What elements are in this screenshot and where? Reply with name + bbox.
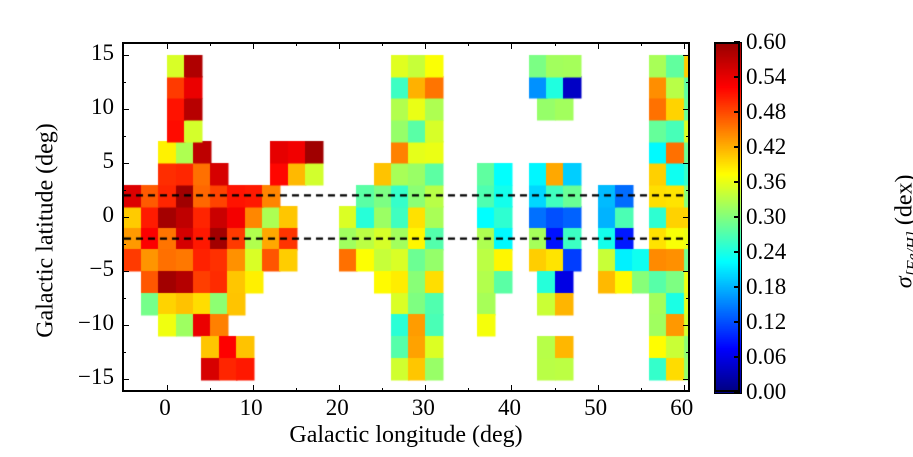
sigma-subscript: [Fe/H]: [904, 231, 913, 276]
y-tick-minor-left: [122, 82, 126, 83]
colorbar-tick-label: 0.30: [746, 204, 786, 230]
x-tick-label: 40: [498, 395, 521, 421]
y-tick-minor-left: [122, 298, 126, 299]
colorbar-tick: [734, 111, 740, 113]
y-tick-right: [683, 379, 690, 380]
y-tick-minor-left: [122, 190, 126, 191]
x-tick-label: 60: [670, 395, 693, 421]
x-tick-top: [684, 42, 685, 49]
x-tick-top: [339, 42, 340, 49]
y-tick-minor-left: [122, 136, 126, 137]
x-tick-minor-bottom: [468, 388, 469, 392]
x-tick-bottom: [511, 385, 512, 392]
y-tick-minor-left: [122, 244, 126, 245]
plot-area: [122, 42, 690, 392]
y-tick-label: 10: [14, 94, 114, 120]
x-tick-bottom: [425, 385, 426, 392]
colorbar-tick: [734, 76, 740, 78]
colorbar-tick-label: 0.18: [746, 274, 786, 300]
heatmap-canvas: [124, 44, 688, 390]
y-tick-right: [683, 55, 690, 56]
x-tick-label: 30: [412, 395, 435, 421]
x-tick-bottom: [598, 385, 599, 392]
x-tick-minor-bottom: [555, 388, 556, 392]
y-tick-minor-right: [686, 298, 690, 299]
x-tick-bottom: [684, 385, 685, 392]
x-tick-top: [598, 42, 599, 49]
y-tick-left: [122, 325, 129, 326]
y-tick-minor-right: [686, 136, 690, 137]
x-tick-minor-bottom: [296, 388, 297, 392]
y-tick-left: [122, 379, 129, 380]
colorbar-gradient: [714, 42, 742, 394]
x-tick-minor-top: [382, 42, 383, 46]
x-tick-minor-top: [468, 42, 469, 46]
y-tick-label: −5: [14, 256, 114, 282]
y-tick-label: −15: [14, 364, 114, 390]
x-tick-label: 0: [159, 395, 171, 421]
colorbar-tick: [734, 146, 740, 148]
colorbar-title: σ[Fe/H] (dex): [892, 66, 913, 396]
x-tick-label: 10: [240, 395, 263, 421]
colorbar-tick-label: 0.00: [746, 379, 786, 405]
figure-root: 0102030405060 −15−10−5051015 Galactic lo…: [0, 0, 913, 457]
colorbar-tick-label: 0.24: [746, 239, 786, 265]
y-tick-label: 15: [14, 40, 114, 66]
colorbar-tick: [734, 356, 740, 358]
colorbar-tick-label: 0.12: [746, 309, 786, 335]
colorbar-tick-label: 0.60: [746, 29, 786, 55]
y-tick-minor-left: [122, 352, 126, 353]
colorbar-tick: [734, 251, 740, 253]
y-tick-right: [683, 325, 690, 326]
x-tick-minor-bottom: [210, 388, 211, 392]
colorbar-tick: [734, 181, 740, 183]
x-tick-label: 20: [326, 395, 349, 421]
x-tick-minor-top: [641, 42, 642, 46]
colorbar-tick: [734, 41, 740, 43]
x-tick-bottom: [167, 385, 168, 392]
y-tick-left: [122, 271, 129, 272]
colorbar-tick-label: 0.54: [746, 64, 786, 90]
y-tick-minor-right: [686, 190, 690, 191]
y-tick-right: [683, 109, 690, 110]
x-tick-top: [167, 42, 168, 49]
y-axis-title: Galactic latitude (deg): [33, 61, 60, 401]
colorbar-tick: [734, 216, 740, 218]
y-tick-left: [122, 55, 129, 56]
x-tick-bottom: [253, 385, 254, 392]
y-tick-minor-right: [686, 244, 690, 245]
x-tick-minor-top: [555, 42, 556, 46]
y-tick-right: [683, 217, 690, 218]
x-tick-label: 50: [584, 395, 607, 421]
x-tick-minor-top: [296, 42, 297, 46]
y-tick-label: 5: [14, 148, 114, 174]
colorbar-tick-label: 0.36: [746, 169, 786, 195]
colorbar-tick-label: 0.42: [746, 134, 786, 160]
y-tick-minor-right: [686, 352, 690, 353]
x-axis-title: Galactic longitude (deg): [122, 422, 690, 449]
y-tick-minor-right: [686, 82, 690, 83]
x-tick-top: [511, 42, 512, 49]
y-tick-label: −10: [14, 310, 114, 336]
x-tick-bottom: [339, 385, 340, 392]
colorbar-tick: [734, 321, 740, 323]
y-tick-left: [122, 163, 129, 164]
y-tick-label: 0: [14, 202, 114, 228]
x-tick-minor-bottom: [641, 388, 642, 392]
colorbar-tick-label: 0.48: [746, 99, 786, 125]
colorbar-tick-label: 0.06: [746, 344, 786, 370]
x-tick-top: [253, 42, 254, 49]
colorbar-tick: [734, 391, 740, 393]
x-tick-minor-top: [210, 42, 211, 46]
y-tick-left: [122, 217, 129, 218]
colorbar-tick: [734, 286, 740, 288]
y-tick-left: [122, 109, 129, 110]
y-tick-right: [683, 271, 690, 272]
colorbar-unit: (dex): [892, 174, 913, 231]
x-tick-minor-bottom: [382, 388, 383, 392]
x-tick-top: [425, 42, 426, 49]
sigma-symbol: σ: [892, 276, 913, 288]
y-tick-right: [683, 163, 690, 164]
